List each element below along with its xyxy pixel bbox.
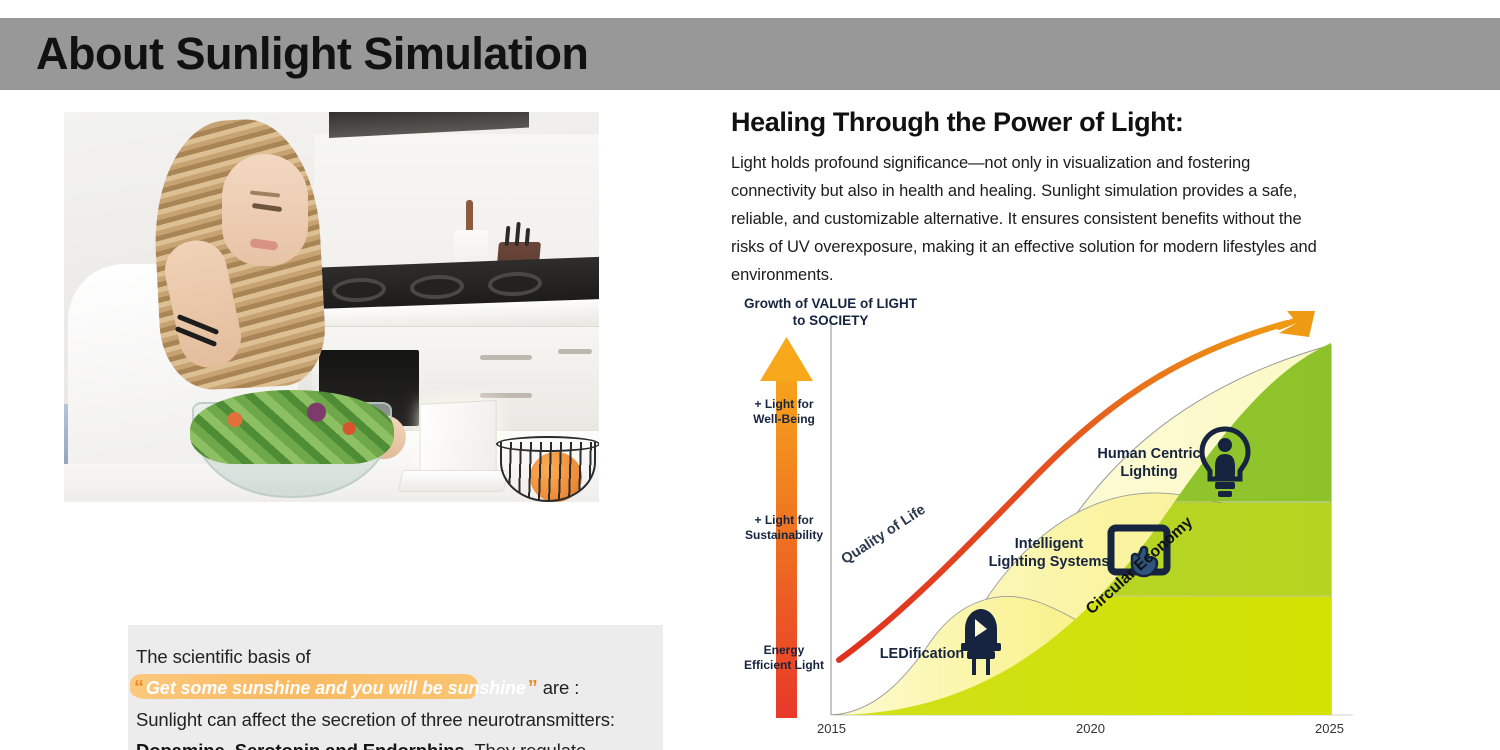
basis-quote-line: “Get some sunshine and you will be sunsh… — [130, 672, 647, 704]
x-tick-2015: 2015 — [817, 721, 846, 736]
photo-drawer-handle — [558, 349, 592, 354]
y-tick-well-being-line2: Well-Being — [729, 412, 839, 427]
label-hcl-line2: Lighting — [1089, 463, 1209, 481]
photo-burner — [410, 274, 464, 300]
value-of-light-chart: Growth of VALUE of LIGHT to SOCIETY + Li… — [731, 285, 1361, 745]
scientific-basis-panel: The scientific basis of “Get some sunshi… — [128, 625, 663, 750]
page-root: About Sunlight Simulation — [0, 0, 1500, 750]
chart-title-line-2: to SOCIETY — [733, 312, 928, 329]
label-ledification: LEDification — [867, 645, 977, 663]
label-intelligent-lighting-systems: Intelligent Lighting Systems — [979, 535, 1119, 571]
chart-title-line-1: Growth of VALUE of LIGHT — [733, 295, 928, 312]
y-tick-sustainability-line2: Sustainability — [729, 528, 839, 543]
photo-lamp-base — [398, 470, 509, 492]
basis-body-pre: Sunlight can affect the secretion of thr… — [136, 709, 615, 730]
neurotransmitters-bold: Dopamine, Serotonin and Endorphins — [136, 740, 465, 750]
photo-drawer-handle — [480, 393, 532, 398]
x-tick-2020: 2020 — [1076, 721, 1105, 736]
section-heading: Healing Through the Power of Light: — [731, 105, 1351, 139]
y-tick-energy-efficient: Energy Efficient Light — [729, 643, 839, 673]
right-column: Healing Through the Power of Light: Ligh… — [731, 105, 1351, 289]
left-column: The scientific basis of “Get some sunshi… — [64, 112, 599, 502]
quote-close-mark: ” — [528, 677, 538, 699]
basis-body: Sunlight can affect the secretion of thr… — [130, 704, 647, 750]
photo-light-therapy-lamp — [420, 400, 497, 480]
label-human-centric-lighting: Human Centric Lighting — [1089, 445, 1209, 481]
label-ils-line2: Lighting Systems — [979, 553, 1119, 571]
quote-suffix: are : — [538, 677, 580, 698]
y-tick-energy-line1: Energy — [729, 643, 839, 658]
sunshine-quote: Get some sunshine and you will be sunshi… — [144, 678, 528, 698]
photo-drawer-handle — [480, 355, 532, 360]
label-hcl-line1: Human Centric — [1089, 445, 1209, 463]
y-tick-well-being-line1: + Light for — [729, 397, 839, 412]
photo-knife — [525, 228, 531, 246]
page-title: About Sunlight Simulation — [36, 20, 588, 88]
quote-wrapper: “Get some sunshine and you will be sunsh… — [134, 672, 538, 704]
chart-title: Growth of VALUE of LIGHT to SOCIETY — [733, 295, 928, 329]
photo-burner — [332, 277, 386, 303]
section-paragraph: Light holds profound significance—not on… — [731, 149, 1321, 289]
basis-line-1: The scientific basis of — [130, 641, 647, 672]
y-tick-energy-line2: Efficient Light — [729, 658, 839, 673]
photo-burner — [488, 271, 542, 297]
photo-salad — [190, 390, 394, 464]
y-tick-sustainability: + Light for Sustainability — [729, 513, 839, 543]
y-tick-well-being: + Light for Well-Being — [729, 397, 839, 427]
quote-open-mark: “ — [134, 677, 144, 699]
lifestyle-photo — [64, 112, 599, 502]
x-tick-2025: 2025 — [1315, 721, 1344, 736]
y-tick-sustainability-line1: + Light for — [729, 513, 839, 528]
label-ils-line1: Intelligent — [979, 535, 1119, 553]
